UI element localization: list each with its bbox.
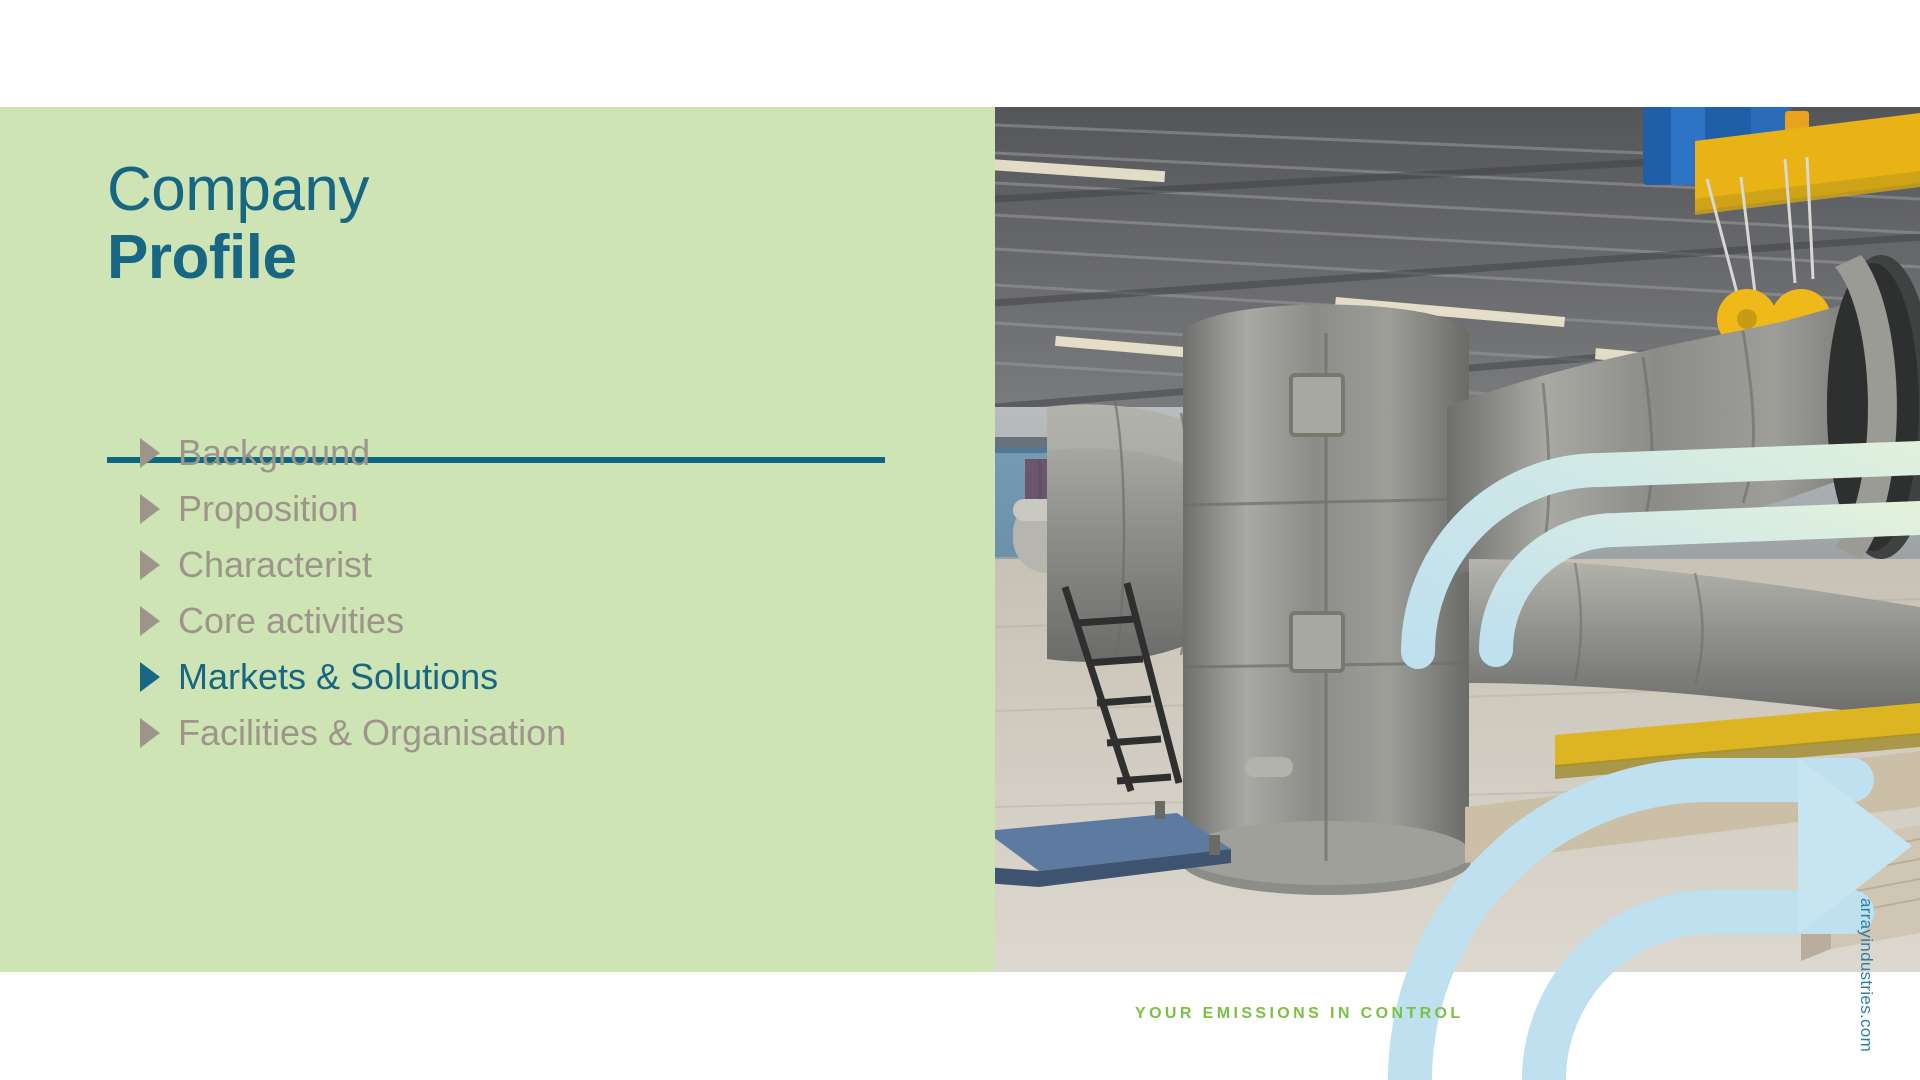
agenda-item-label: Background <box>178 435 370 471</box>
agenda-item-markets-solutions[interactable]: Markets & Solutions <box>138 649 938 705</box>
left-green-panel: Company Profile Background Proposition C… <box>0 107 995 972</box>
agenda-item-characterist[interactable]: Characterist <box>138 537 938 593</box>
footer-tagline: YOUR EMISSIONS IN CONTROL <box>1135 1005 1464 1023</box>
agenda-item-label: Markets & Solutions <box>178 659 498 695</box>
agenda-item-label: Characterist <box>178 547 372 583</box>
agenda-item-proposition[interactable]: Proposition <box>138 481 938 537</box>
triangle-bullet-icon <box>140 606 160 636</box>
photo-illustration <box>995 107 1920 972</box>
agenda-item-background[interactable]: Background <box>138 425 938 481</box>
page-title: Company Profile <box>107 157 907 292</box>
triangle-bullet-icon <box>140 718 160 748</box>
agenda-item-label: Proposition <box>178 491 358 527</box>
website-watermark: arrayindustries.com <box>1856 898 1876 1052</box>
triangle-bullet-icon <box>140 438 160 468</box>
agenda-item-core-activities[interactable]: Core activities <box>138 593 938 649</box>
agenda-item-label: Core activities <box>178 603 404 639</box>
agenda-list: Background Proposition Characterist Core… <box>138 425 938 761</box>
hero-photo <box>995 107 1920 972</box>
title-line-light: Company <box>107 157 907 223</box>
title-line-bold: Profile <box>107 223 907 292</box>
agenda-item-label: Facilities & Organisation <box>178 715 566 751</box>
triangle-bullet-icon <box>140 662 160 692</box>
agenda-item-facilities-organisation[interactable]: Facilities & Organisation <box>138 705 938 761</box>
triangle-bullet-icon <box>140 494 160 524</box>
triangle-bullet-icon <box>140 550 160 580</box>
slide-canvas: Company Profile Background Proposition C… <box>0 0 1920 1080</box>
